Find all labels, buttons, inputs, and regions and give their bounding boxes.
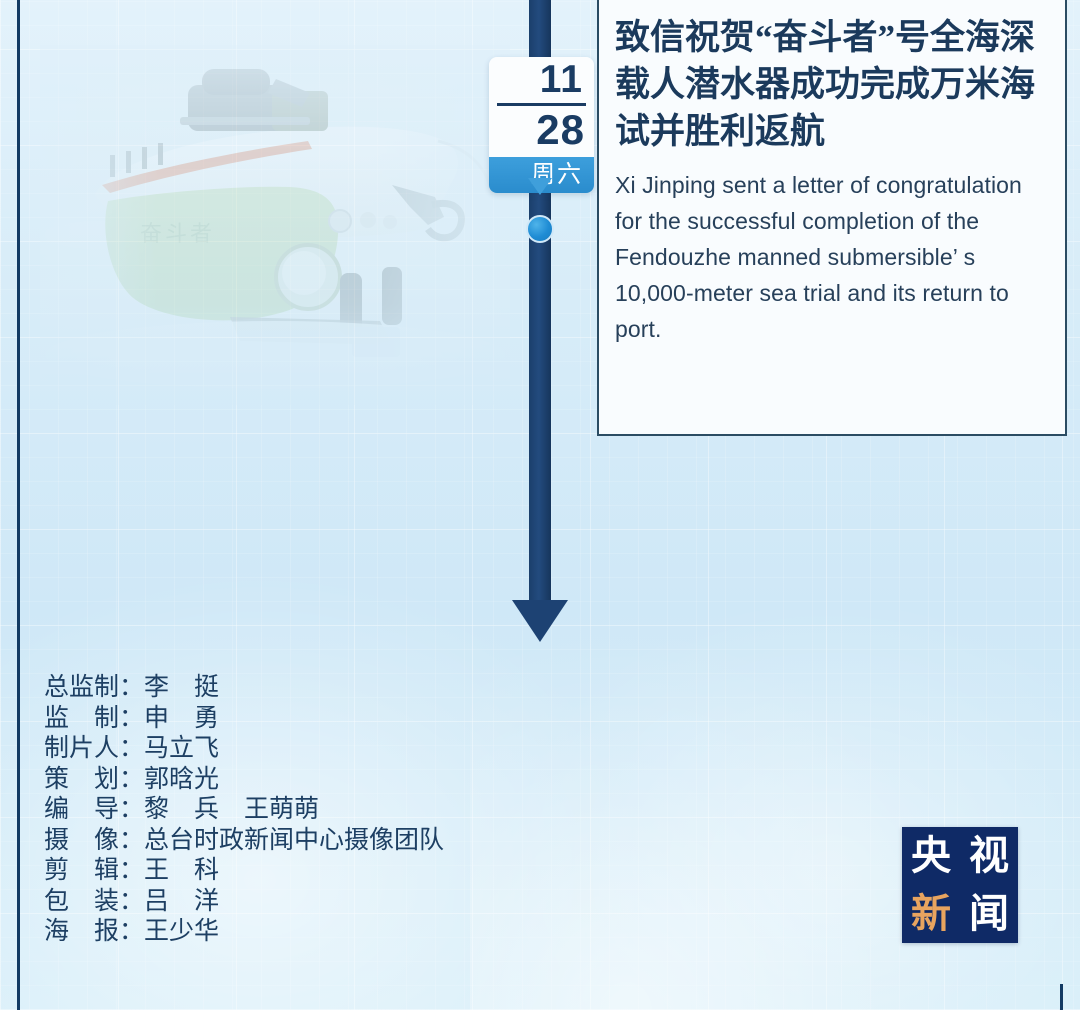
logo-char-xin: 新 <box>911 894 951 934</box>
submersible-photo: 奋斗者 <box>40 45 510 405</box>
news-subhead-english: Xi Jinping sent a letter of congratulati… <box>615 167 1047 347</box>
frame-bottom-border <box>17 984 1063 1010</box>
credit-row: 编 导：黎 兵 王萌萌 <box>44 794 444 825</box>
logo-char-wen: 闻 <box>969 894 1009 934</box>
svg-text:奋斗者: 奋斗者 <box>140 222 215 247</box>
credit-row: 总监制：李 挺 <box>44 672 444 703</box>
credit-row: 策 划：郭晗光 <box>44 764 444 795</box>
date-badge-top: 11 28 <box>489 57 594 157</box>
timeline-arrow-icon <box>512 600 568 642</box>
date-badge-pointer-icon <box>528 178 552 195</box>
date-month: 11 <box>489 61 594 99</box>
glow-bottom-right <box>520 610 1080 1010</box>
credit-row: 包 装：吕 洋 <box>44 886 444 917</box>
credit-row: 摄 像：总台时政新闻中心摄像团队 <box>44 825 444 856</box>
credit-row: 监 制：申 勇 <box>44 703 444 734</box>
frame-left-line <box>17 0 20 1010</box>
news-headline: 致信祝贺“奋斗者”号全海深载人潜水器成功完成万米海试并胜利返航 <box>615 14 1047 155</box>
logo-char-yang: 央 <box>911 836 951 876</box>
date-day: 28 <box>489 109 594 151</box>
news-card[interactable]: 致信祝贺“奋斗者”号全海深载人潜水器成功完成万米海试并胜利返航 Xi Jinpi… <box>597 0 1067 436</box>
credit-row: 海 报：王少华 <box>44 916 444 947</box>
credits-block: 总监制：李 挺 监 制：申 勇 制片人：马立飞 策 划：郭晗光 编 导：黎 兵 … <box>44 672 444 947</box>
timeline-node-dot[interactable] <box>526 215 554 243</box>
credit-row: 制片人：马立飞 <box>44 733 444 764</box>
date-badge: 11 28 周六 <box>489 57 594 193</box>
cctv-news-logo[interactable]: 央 视 新 闻 <box>902 827 1018 943</box>
news-poster: 奋斗者 11 28 <box>0 0 1080 1010</box>
wave-highlight <box>470 610 990 1010</box>
logo-char-shi: 视 <box>969 836 1009 876</box>
credit-row: 剪 辑：王 科 <box>44 855 444 886</box>
photo-fade-overlay <box>40 45 510 405</box>
